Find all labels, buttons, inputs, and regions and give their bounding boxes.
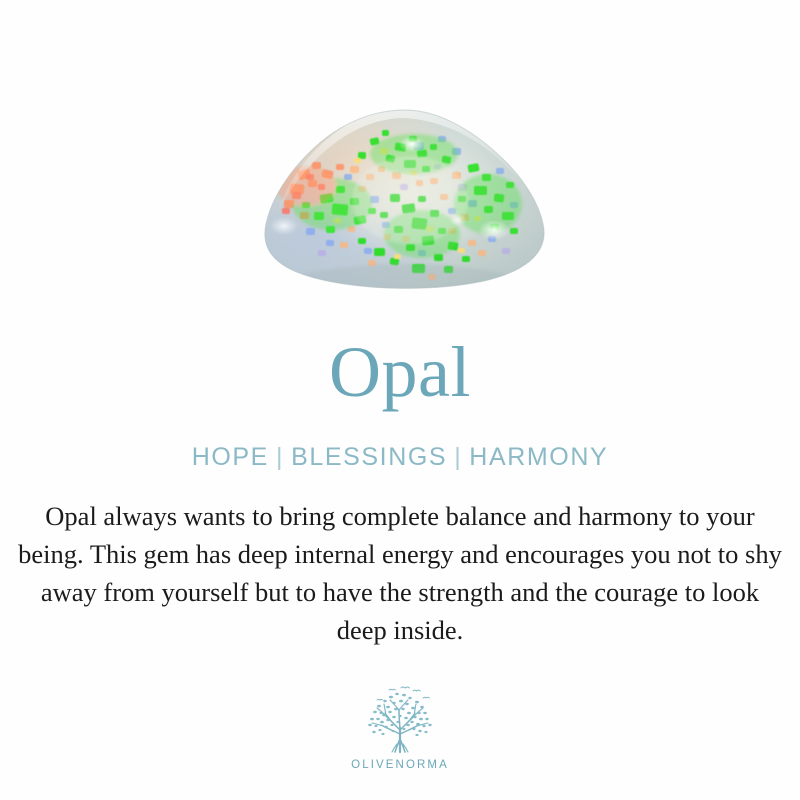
keyword-separator-2: | [447, 443, 469, 471]
opal-cabochon-image [262, 108, 548, 290]
tree-of-life-icon [361, 684, 439, 756]
brand-logo: OLIVENORMA [320, 684, 480, 771]
keyword-line: HOPE|BLESSINGS|HARMONY [0, 443, 800, 472]
keyword-blessings: BLESSINGS [291, 443, 447, 471]
keyword-harmony: HARMONY [469, 443, 608, 471]
description-text: Opal always wants to bring complete bala… [18, 497, 782, 649]
keyword-separator-1: | [269, 443, 291, 471]
brand-wordmark: OLIVENORMA [351, 759, 449, 771]
opal-cabochon-svg [262, 108, 548, 290]
gemstone-info-card: Opal HOPE|BLESSINGS|HARMONY Opal always … [0, 0, 800, 800]
page-title: Opal [0, 336, 800, 408]
keyword-hope: HOPE [192, 443, 269, 471]
gemstone-image-area [0, 0, 800, 320]
